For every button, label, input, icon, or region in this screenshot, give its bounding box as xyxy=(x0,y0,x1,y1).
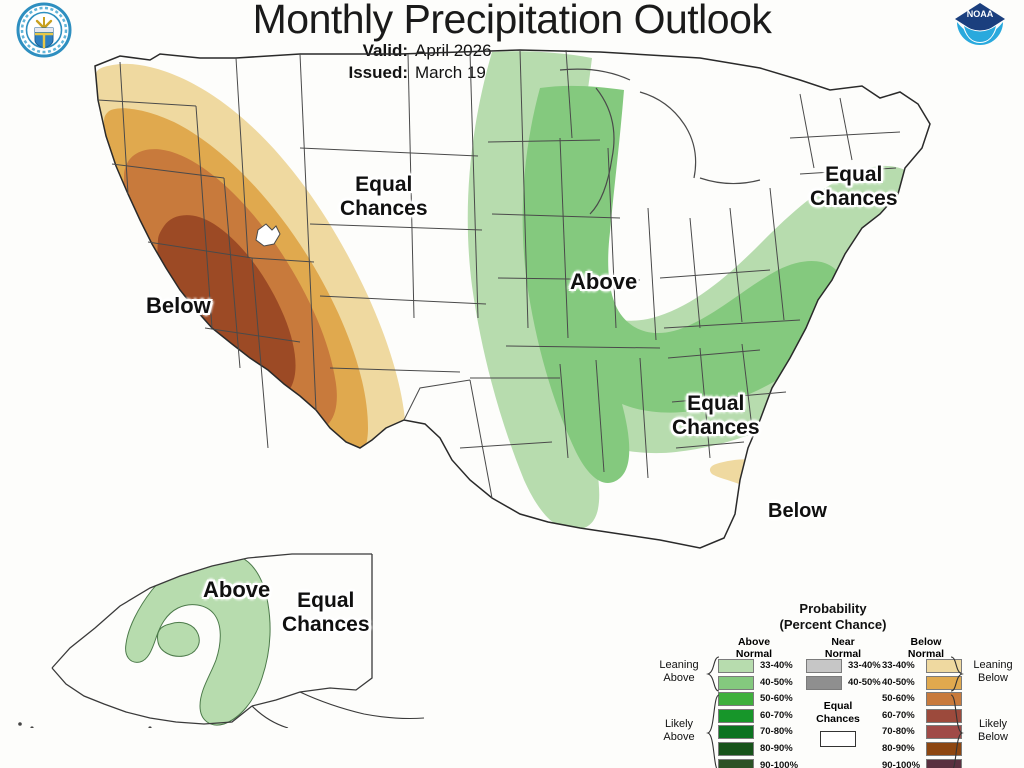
lb-l1: Leaning xyxy=(973,659,1012,671)
legend-title-line1: Probability xyxy=(799,601,866,616)
above-normal-swatch-60-70 xyxy=(718,709,754,723)
legend-bracket-likely-above: Likely Above xyxy=(648,718,710,744)
below-normal-label-40-50: 40-50% xyxy=(882,676,926,690)
ec-ne-line2: Chances xyxy=(810,187,898,210)
head-above-l1: Above xyxy=(738,636,770,648)
brace-likely-below-icon xyxy=(950,694,964,768)
below-normal-label-60-70: 60-70% xyxy=(882,709,926,723)
below-normal-label-80-90: 80-90% xyxy=(882,742,926,756)
map-label-equal-chances-northeast: Equal Chances xyxy=(810,163,898,210)
legend-bracket-leaning-above: Leaning Above xyxy=(648,659,710,685)
kb-l1: Likely xyxy=(979,718,1007,730)
head-near-l1: Near xyxy=(831,636,854,648)
map-label-equal-chances-southeast: Equal Chances xyxy=(672,392,760,439)
legend-col-head-above-normal: Above Normal xyxy=(716,636,792,661)
near-normal-swatch-33-40 xyxy=(806,659,842,673)
below-normal-label-70-80: 70-80% xyxy=(882,725,926,739)
above-normal-label-60-70: 60-70% xyxy=(760,709,804,723)
below-normal-label-33-40: 33-40% xyxy=(882,659,926,673)
legend-equal-chances-swatch xyxy=(820,731,856,747)
below-normal-label-90-100: 90-100% xyxy=(882,759,926,768)
la-l1: Leaning xyxy=(659,659,698,671)
head-below-l1: Below xyxy=(911,636,942,648)
legend-bracket-leaning-below: Leaning Below xyxy=(962,659,1024,685)
legend-title: Probability (Percent Chance) xyxy=(733,601,933,632)
ec-legend-l1: Equal xyxy=(824,700,853,712)
ka-l2: Above xyxy=(663,731,694,743)
kb-l2: Below xyxy=(978,731,1008,743)
ec-ne-line1: Equal xyxy=(825,163,882,186)
below-normal-label-50-60: 50-60% xyxy=(882,692,926,706)
above-normal-label-90-100: 90-100% xyxy=(760,759,804,768)
west-below-contours xyxy=(95,64,406,502)
ec-legend-l2: Chances xyxy=(816,713,860,725)
above-normal-label-40-50: 40-50% xyxy=(760,676,804,690)
ec-ak-line1: Equal xyxy=(297,589,354,612)
map-label-equal-chances-northwest: Equal Chances xyxy=(340,173,428,220)
map-label-below-florida: Below xyxy=(768,500,827,522)
ec-se-line2: Chances xyxy=(672,416,760,439)
above-normal-swatch-33-40 xyxy=(718,659,754,673)
above-normal-swatch-50-60 xyxy=(718,692,754,706)
above-normal-swatch-70-80 xyxy=(718,725,754,739)
ka-l1: Likely xyxy=(665,718,693,730)
ec-se-line1: Equal xyxy=(687,392,744,415)
east-above-contours xyxy=(468,51,935,530)
legend-col-head-near-normal: Near Normal xyxy=(805,636,881,661)
above-normal-label-80-90: 80-90% xyxy=(760,742,804,756)
legend-bracket-likely-below: Likely Below xyxy=(962,718,1024,744)
above-normal-swatch-80-90 xyxy=(718,742,754,756)
above-normal-label-70-80: 70-80% xyxy=(760,725,804,739)
ec-nw-line1: Equal xyxy=(355,173,412,196)
above-normal-swatch-40-50 xyxy=(718,676,754,690)
contour-fl-33-40 xyxy=(710,459,833,608)
lb-l2: Below xyxy=(978,672,1008,684)
map-label-above-midwest: Above xyxy=(570,270,637,295)
above-normal-label-33-40: 33-40% xyxy=(760,659,804,673)
map-label-equal-chances-alaska: Equal Chances xyxy=(282,589,370,636)
precipitation-outlook-page: NOAA Monthly Precipitation Outlook Valid… xyxy=(0,0,1024,768)
la-l2: Above xyxy=(663,672,694,684)
ec-ak-line2: Chances xyxy=(282,613,370,636)
legend-equal-chances-label: Equal Chances xyxy=(800,700,876,725)
legend-title-line2: (Percent Chance) xyxy=(780,617,887,632)
florida-below-contours xyxy=(710,459,833,608)
near-normal-swatch-40-50 xyxy=(806,676,842,690)
above-normal-swatch-90-100 xyxy=(718,759,754,768)
brace-leaning-below-icon xyxy=(950,656,964,692)
brace-likely-above-icon xyxy=(706,694,720,768)
map-label-above-alaska: Above xyxy=(203,578,270,603)
ec-nw-line2: Chances xyxy=(340,197,428,220)
above-normal-label-50-60: 50-60% xyxy=(760,692,804,706)
brace-leaning-above-icon xyxy=(706,656,720,692)
map-label-below-west: Below xyxy=(146,294,211,319)
